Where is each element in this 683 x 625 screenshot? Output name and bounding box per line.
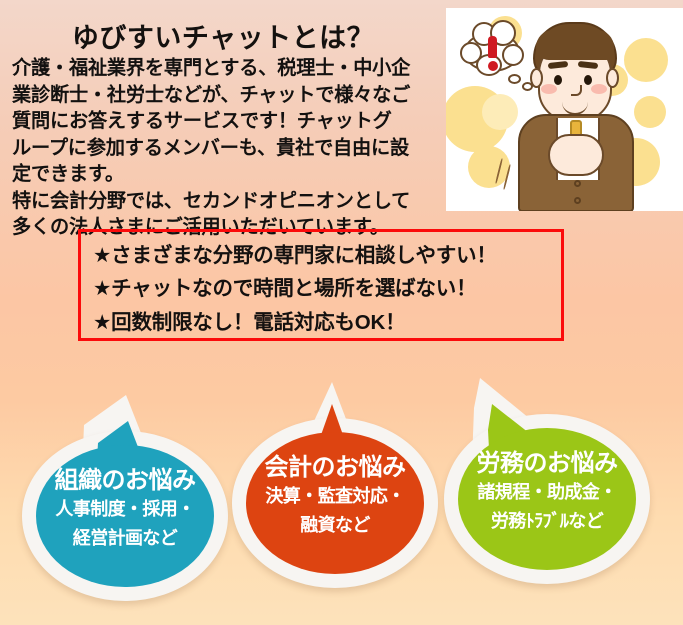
body-line: 介護・福祉業界を専門とする、税理士・中小企: [12, 56, 444, 83]
jacket-button: [574, 180, 581, 187]
businessman-illustration: [446, 8, 683, 211]
decorative-dot: [482, 94, 518, 130]
man-figure: [516, 22, 636, 211]
balloon-labels: 労務のお悩み 諸規程・助成金・ 労務ﾄﾗﾌﾞﾙなど: [444, 451, 650, 534]
balloon-sub-line: 労務ﾄﾗﾌﾞﾙなど: [444, 509, 650, 535]
topic-balloon-labor[interactable]: 労務のお悩み 諸規程・助成金・ 労務ﾄﾗﾌﾞﾙなど: [444, 378, 650, 584]
balloon-labels: 会計のお悩み 決算・監査対応・ 融資など: [232, 455, 438, 538]
thought-bubble-icon: [460, 22, 522, 78]
balloon-headline: 労務のお悩み: [444, 451, 650, 477]
body-paragraph: 介護・福祉業界を専門とする、税理士・中小企 業診断士・社労士などが、チャットで様…: [12, 56, 444, 242]
cheek-left: [541, 84, 557, 94]
exclamation-dot-icon: [488, 61, 498, 71]
eye-right: [584, 75, 592, 85]
feature-item: ★チャットなので時間と場所を選ばない！: [93, 272, 561, 305]
balloon-sub-line: 諸規程・助成金・: [444, 480, 650, 506]
balloon-headline: 組織のお悩み: [22, 468, 228, 494]
feature-item: ★さまざまな分野の専門家に相談しやすい！: [93, 239, 561, 272]
cheek-right: [591, 84, 607, 94]
eye-left: [554, 75, 562, 85]
body-line: 質問にお答えするサービスです！チャットグ: [12, 109, 444, 136]
clasped-hands: [548, 134, 604, 176]
fringe: [536, 30, 614, 60]
decorative-dot: [634, 96, 666, 128]
body-line: 特に会計分野では、セカンドオピニオンとして: [12, 189, 444, 216]
balloon-headline: 会計のお悩み: [232, 455, 438, 481]
page-title: ゆびすいチャットとは？: [0, 22, 446, 56]
jacket-button: [574, 197, 581, 204]
balloon-sub-line: 決算・監査対応・: [232, 484, 438, 510]
balloon-labels: 組織のお悩み 人事制度・採用・ 経営計画など: [22, 468, 228, 551]
exclamation-mark-icon: [488, 36, 497, 58]
ear-right: [606, 68, 619, 88]
body-line: 業診断士・社労士などが、チャットで様々なご: [12, 83, 444, 110]
topic-balloon-accounting[interactable]: 会計のお悩み 決算・監査対応・ 融資など: [232, 382, 438, 588]
topic-balloon-organization[interactable]: 組織のお悩み 人事制度・採用・ 経営計画など: [22, 395, 228, 601]
ear-left: [530, 68, 543, 88]
feature-item: ★回数制限なし！電話対応もOK！: [93, 306, 561, 339]
balloon-sub-line: 融資など: [232, 513, 438, 539]
body-line: ループに参加するメンバーも、貴社で自由に設: [12, 136, 444, 163]
body-line: 定できます。: [12, 162, 444, 189]
balloon-sub-line: 人事制度・採用・: [22, 497, 228, 523]
poster-root: ゆびすいチャットとは？ 介護・福祉業界を専門とする、税理士・中小企 業診断士・社…: [0, 0, 683, 625]
balloon-sub-line: 経営計画など: [22, 526, 228, 552]
feature-highlight-box: ★さまざまな分野の専門家に相談しやすい！ ★チャットなので時間と場所を選ばない！…: [78, 229, 564, 341]
